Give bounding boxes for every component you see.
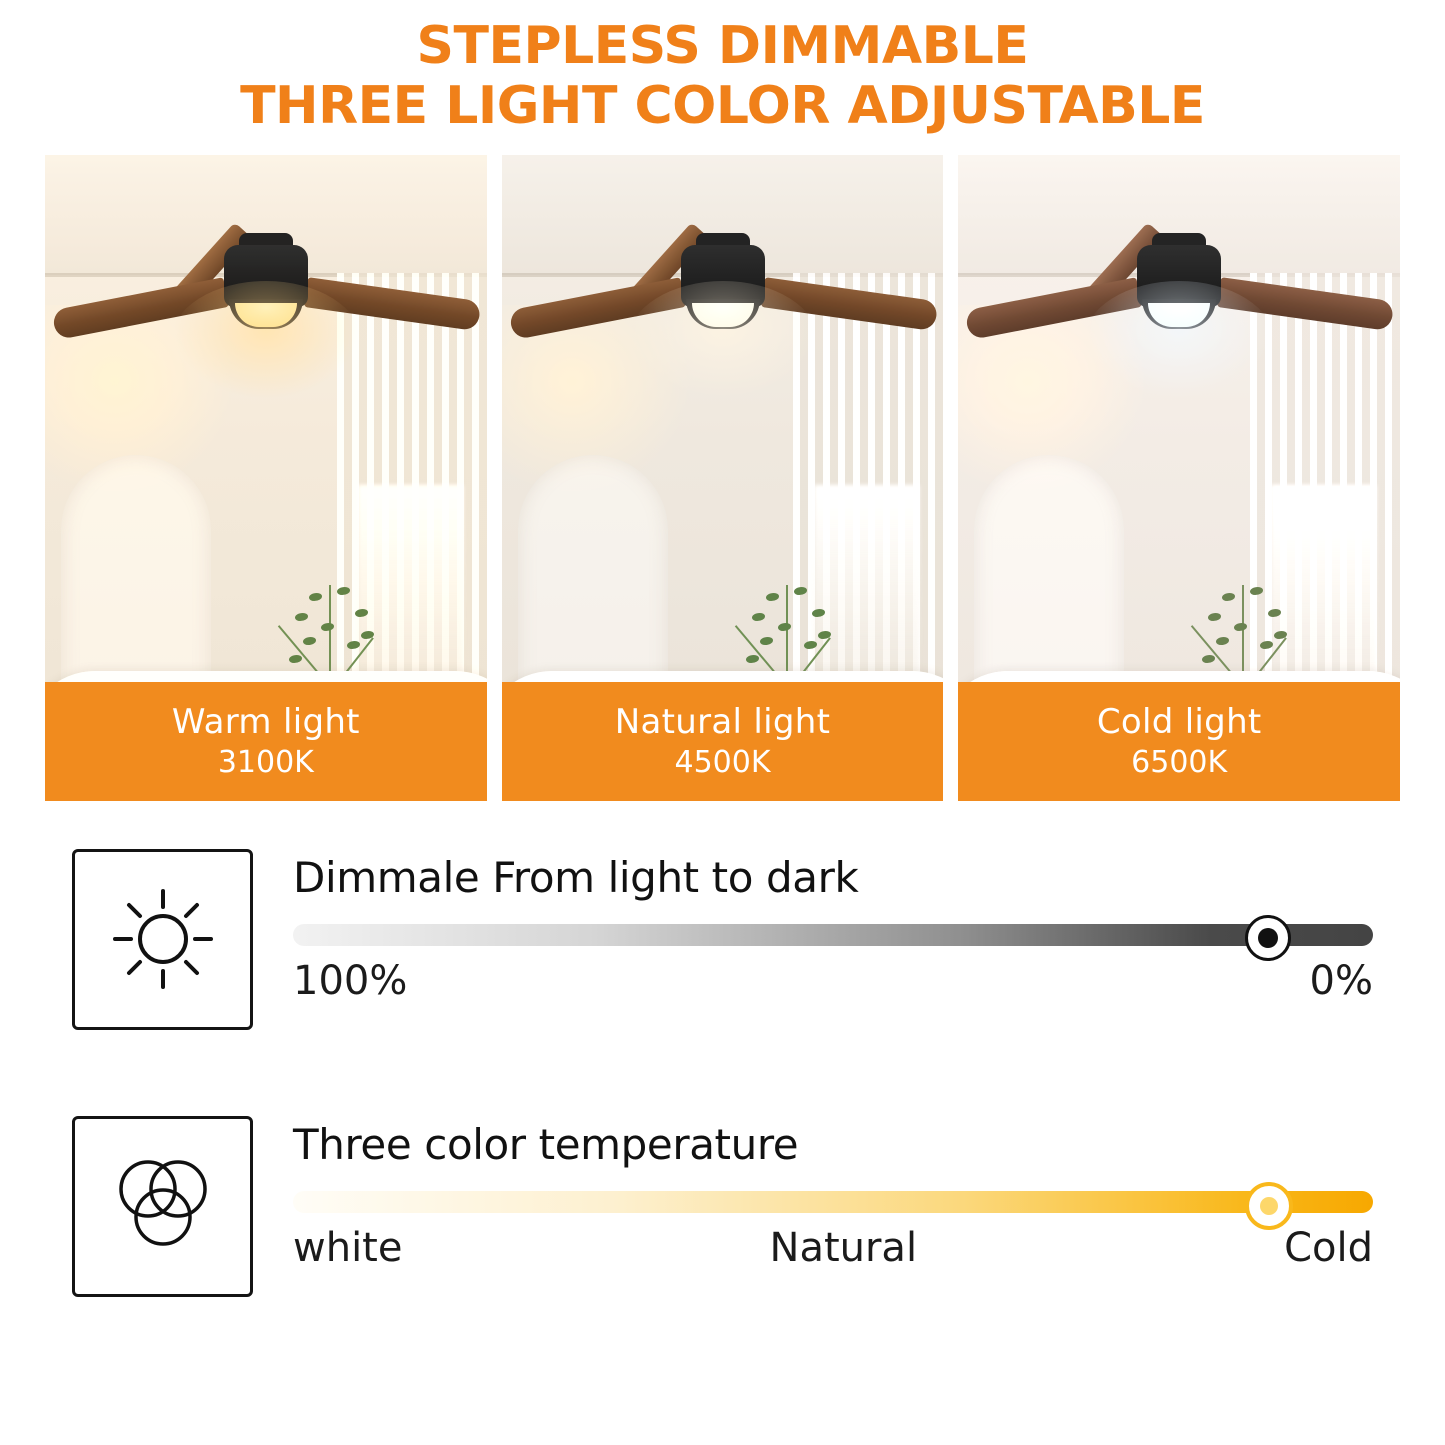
card-light-name: Natural light bbox=[615, 702, 830, 742]
dimming-scale: 100% 0% bbox=[293, 958, 1373, 1004]
ceiling-fan bbox=[508, 203, 938, 383]
dimming-body: Dimmale From light to dark 100% 0% bbox=[293, 849, 1373, 1004]
color-temperature-scale-mid: Natural bbox=[770, 1225, 918, 1271]
light-color-card-cold: Cold light 6500K bbox=[958, 155, 1400, 801]
light-color-card-list: Warm light 3100K bbox=[0, 155, 1445, 801]
dimming-scale-left: 100% bbox=[293, 958, 407, 1004]
dimming-slider-knob[interactable] bbox=[1245, 915, 1291, 961]
feature-list: Dimmale From light to dark 100% 0% Three… bbox=[0, 801, 1445, 1297]
sun-brightness-icon bbox=[107, 883, 219, 995]
card-caption-cold: Cold light 6500K bbox=[958, 682, 1400, 801]
fan-light-glow bbox=[171, 281, 361, 401]
feature-dimming: Dimmale From light to dark 100% 0% bbox=[72, 849, 1373, 1030]
color-temperature-slider-knob[interactable] bbox=[1245, 1182, 1293, 1230]
feature-color-temperature: Three color temperature white Natural Co… bbox=[72, 1116, 1373, 1297]
card-light-name: Cold light bbox=[1097, 702, 1262, 742]
card-kelvin-value: 3100K bbox=[218, 745, 314, 780]
color-temperature-title: Three color temperature bbox=[293, 1120, 1373, 1169]
color-temperature-scale-left: white bbox=[293, 1225, 402, 1271]
ceiling-fan bbox=[964, 203, 1394, 383]
headline-line-2: THREE LIGHT COLOR ADJUSTABLE bbox=[0, 76, 1445, 136]
page-headline: STEPLESS DIMMABLE THREE LIGHT COLOR ADJU… bbox=[0, 0, 1445, 137]
three-circles-color-icon bbox=[104, 1147, 222, 1265]
card-caption-natural: Natural light 4500K bbox=[502, 682, 944, 801]
card-kelvin-value: 6500K bbox=[1131, 745, 1227, 780]
color-temperature-scale-right: Cold bbox=[1284, 1225, 1373, 1271]
dimming-scale-right: 0% bbox=[1310, 958, 1373, 1004]
dimming-slider[interactable] bbox=[293, 924, 1373, 946]
light-color-card-warm: Warm light 3100K bbox=[45, 155, 487, 801]
color-temperature-slider[interactable] bbox=[293, 1191, 1373, 1213]
headline-line-1: STEPLESS DIMMABLE bbox=[0, 16, 1445, 76]
card-kelvin-value: 4500K bbox=[674, 745, 770, 780]
card-light-name: Warm light bbox=[172, 702, 360, 742]
color-temperature-body: Three color temperature white Natural Co… bbox=[293, 1116, 1373, 1271]
ceiling-fan bbox=[51, 203, 481, 383]
dimming-title: Dimmale From light to dark bbox=[293, 853, 1373, 902]
card-caption-warm: Warm light 3100K bbox=[45, 682, 487, 801]
brightness-icon-box bbox=[72, 849, 253, 1030]
color-temperature-icon-box bbox=[72, 1116, 253, 1297]
fan-light-glow bbox=[1084, 281, 1274, 401]
color-temperature-scale: white Natural Cold bbox=[293, 1225, 1373, 1271]
fan-light-glow bbox=[628, 281, 818, 401]
light-color-card-natural: Natural light 4500K bbox=[502, 155, 944, 801]
